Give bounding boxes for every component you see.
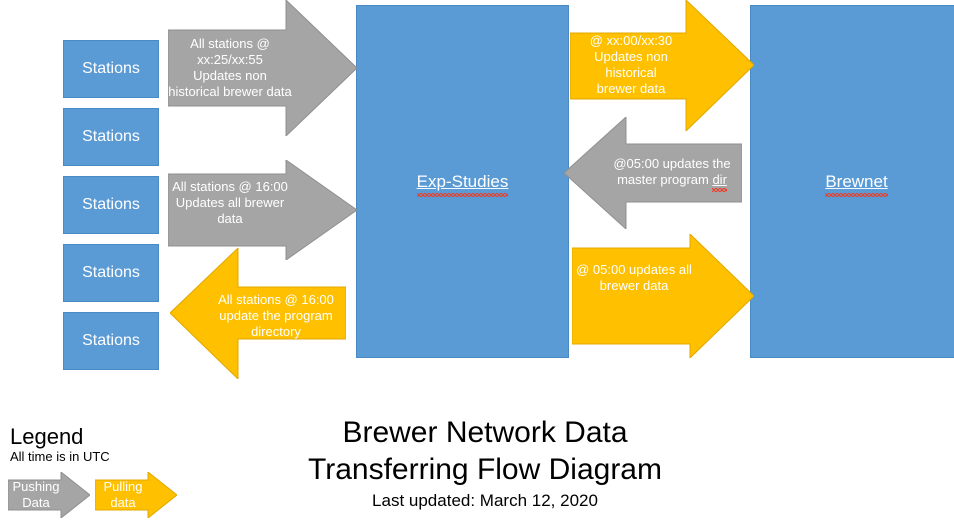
legend-subtitle: All time is in UTC (10, 449, 110, 464)
diagram-canvas: Stations Stations Stations Stations Stat… (0, 0, 954, 524)
node-label: Brewnet (825, 172, 887, 192)
legend-label-pushing: Pushing Data (8, 477, 64, 513)
node-label: Stations (82, 128, 140, 146)
diagram-title-line-2: Transferring Flow Diagram (255, 452, 715, 489)
diagram-title-line-1: Brewer Network Data (255, 415, 715, 452)
legend-title: Legend (10, 424, 83, 450)
flow-label-stations-to-exp-frequent: All stations @ xx:25/xx:55 Updates non h… (168, 28, 292, 108)
node-stations-4[interactable]: Stations (63, 244, 159, 302)
legend-label-pulling: Pulling data (95, 477, 151, 513)
diagram-last-updated: Last updated: March 12, 2020 (255, 488, 715, 514)
node-brewnet[interactable]: Brewnet (750, 5, 954, 358)
flow-label-brewnet-to-exp-master: @05:00 updates the master program dir (602, 144, 742, 200)
flow-label-exp-to-brewnet-daily: @ 05:00 updates all brewer data (572, 255, 696, 301)
node-label: Stations (82, 332, 140, 350)
node-label: Stations (82, 196, 140, 214)
node-stations-2[interactable]: Stations (63, 108, 159, 166)
node-exp-studies[interactable]: Exp-Studies (356, 5, 569, 358)
node-label: Stations (82, 60, 140, 78)
flow-label-exp-to-brewnet-frequent: @ xx:00/xx:30 Updates non historical bre… (570, 32, 692, 98)
node-stations-3[interactable]: Stations (63, 176, 159, 234)
node-stations-1[interactable]: Stations (63, 40, 159, 98)
node-label: Stations (82, 264, 140, 282)
node-stations-5[interactable]: Stations (63, 312, 159, 370)
node-label: Exp-Studies (417, 172, 509, 192)
flow-label-misspelled-word: dir (712, 172, 726, 187)
flow-label-exp-to-stations-program-dir: All stations @ 16:00 update the program … (211, 285, 341, 347)
flow-label-stations-to-exp-daily: All stations @ 16:00 Updates all brewer … (168, 172, 292, 234)
diagram-title-block: Brewer Network Data Transferring Flow Di… (255, 415, 715, 514)
